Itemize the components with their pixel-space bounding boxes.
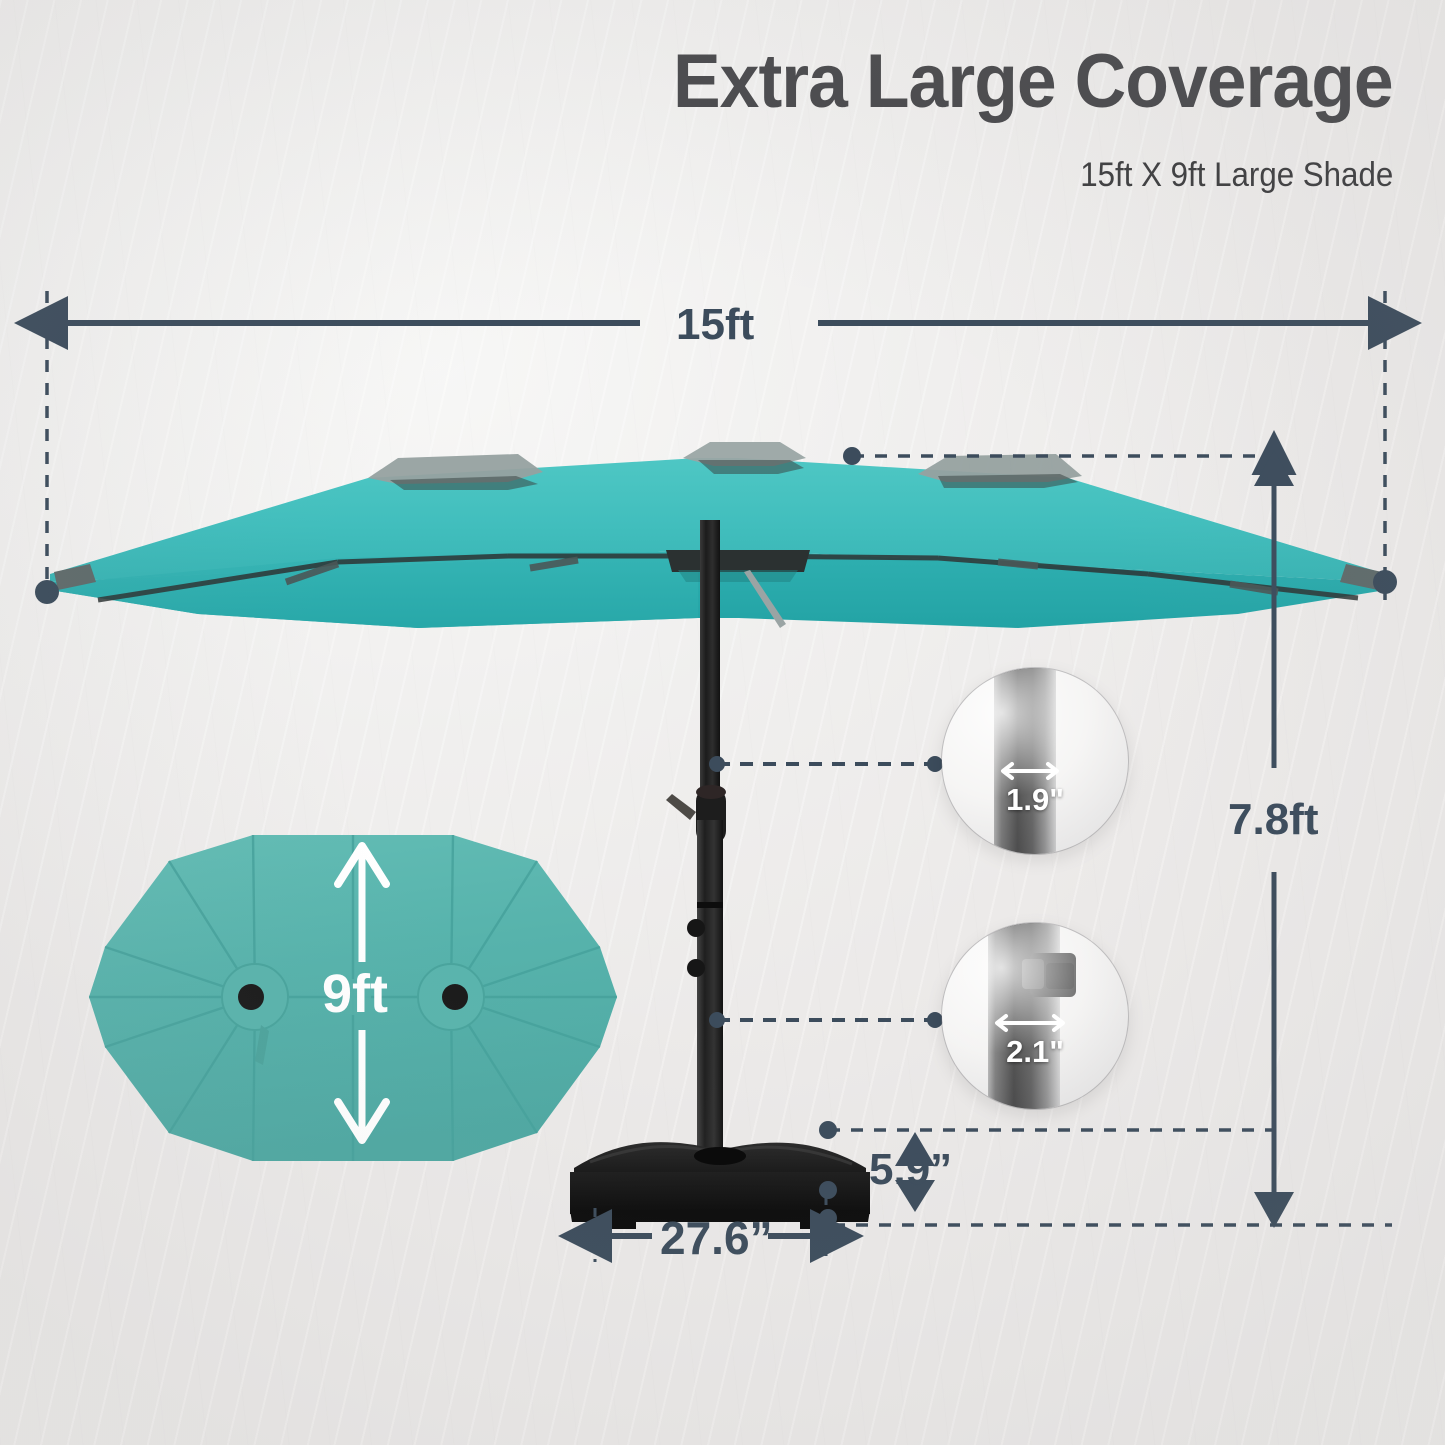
label-base-width-276: 27.6” — [660, 1211, 773, 1265]
infographic-canvas: Extra Large Coverage 15ft X 9ft Large Sh… — [0, 0, 1445, 1445]
pole-upper-section — [700, 520, 720, 820]
arrow-78ft-down-head — [1254, 1192, 1294, 1228]
label-width-15ft: 15ft — [676, 300, 754, 350]
base-foot-left — [602, 1220, 636, 1229]
magnifier-upper-label: 1.9" — [942, 782, 1128, 818]
pole-button-upper — [687, 919, 705, 937]
magnifier-lower-label: 2.1" — [942, 1034, 1128, 1070]
label-base-height-59: 5.9” — [869, 1145, 952, 1195]
pole-joint — [697, 902, 723, 908]
callout-dot-upper-pole-end — [927, 756, 943, 772]
top-canopy-hub-right — [417, 963, 485, 1031]
callout-dot-lower-pole-end — [927, 1012, 943, 1028]
label-depth-9ft: 9ft — [322, 963, 388, 1025]
page-subtitle: 15ft X 9ft Large Shade — [1080, 158, 1393, 192]
magnifier-upper-arrow — [942, 668, 1128, 854]
magnifier-lower-pole: 2.1" — [942, 923, 1128, 1109]
base-pole-socket — [694, 1147, 746, 1165]
top-canopy-hub-left — [221, 963, 289, 1031]
label-height-78ft: 7.8ft — [1228, 795, 1318, 845]
page-title: Extra Large Coverage — [673, 44, 1393, 120]
crank-handle — [666, 794, 696, 820]
magnifier-lower-arrow — [942, 923, 1128, 1109]
base-foot-right — [800, 1220, 834, 1229]
pole-button-lower — [687, 959, 705, 977]
magnifier-upper-pole: 1.9" — [942, 668, 1128, 854]
